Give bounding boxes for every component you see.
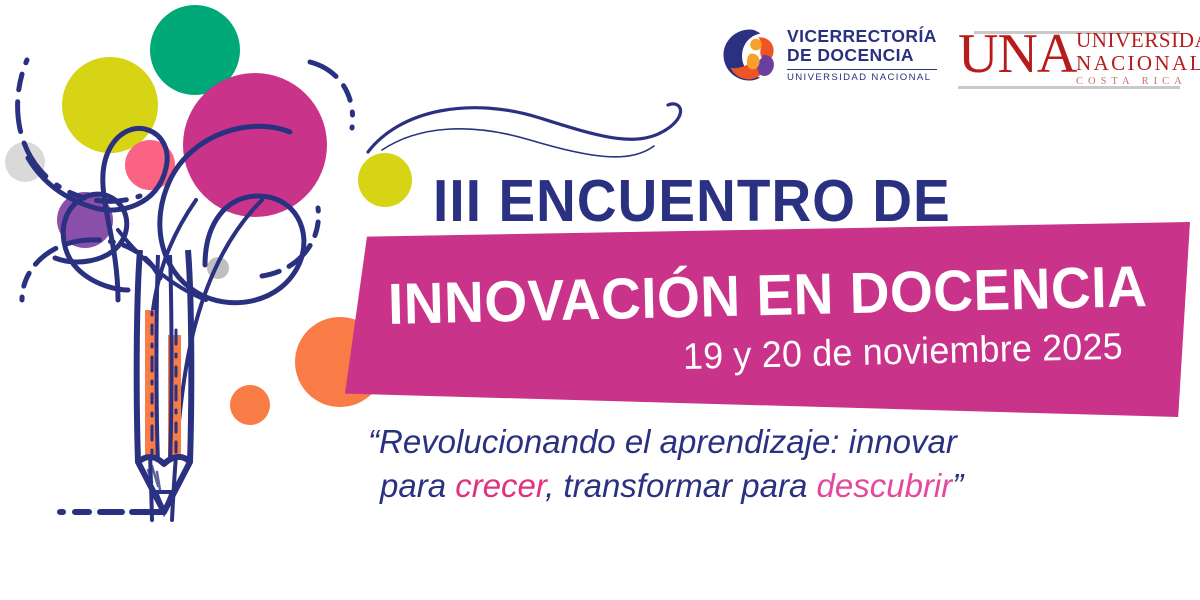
circle-orange-small (230, 385, 270, 425)
una-word-nacional: NACIONAL (1076, 53, 1200, 74)
pencil-inner-line-left (157, 255, 159, 462)
swoosh-curves (368, 104, 681, 157)
loop-yellow-outline (28, 128, 167, 300)
tagline-line2-mid: , transformar para (545, 467, 816, 504)
vicerrectoria-wordmark: VICERRECTORÍA DE DOCENCIA UNIVERSIDAD NA… (787, 28, 937, 83)
una-logo[interactable]: UNA UNIVERSIDAD NACIONAL COSTA RICA (958, 22, 1180, 94)
branch-cross-thin (118, 230, 206, 300)
pencil-tip-collar (138, 457, 190, 464)
circle-yellow-canopy (62, 57, 158, 153)
dashed-arc-lower-left (22, 240, 160, 300)
tagline-line-1: “Revolucionando el aprendizaje: innovar (368, 423, 957, 460)
circle-gray-small (207, 257, 229, 279)
swoosh-upper (368, 104, 681, 152)
tagline-line2-prefix: para (380, 467, 455, 504)
circle-pink-canopy (125, 140, 175, 190)
circle-gray-left (5, 142, 45, 182)
tagline-line2-suffix: ” (952, 467, 963, 504)
dashed-arc-upper-left (18, 60, 140, 201)
dashed-arc-right-lower (262, 208, 318, 276)
loop-purple-outline (55, 194, 128, 290)
swoosh-lower (382, 129, 654, 157)
loop-magenta-outline (160, 126, 304, 302)
pencil-stripe-right (168, 335, 181, 460)
tagline-line-2: para crecer, transformar para descubrir” (368, 464, 1048, 508)
event-headline: III ENCUENTRO DE (433, 172, 951, 231)
dashed-arc-right-canopy (310, 62, 353, 128)
logo-row: VICERRECTORÍA DE DOCENCIA UNIVERSIDAD NA… (720, 22, 1180, 102)
pencil-hatch-3 (157, 472, 160, 490)
tagline-highlight-crecer: crecer (455, 467, 545, 504)
circle-teal-canopy (150, 5, 240, 95)
branch-right-thin (172, 200, 262, 520)
una-rule-bottom (958, 86, 1180, 89)
circle-yellow-accent (358, 153, 412, 207)
pencil-outline (137, 250, 192, 512)
branch-left-thin (149, 200, 196, 520)
vicerrectoria-line2: DE DOCENCIA (787, 47, 937, 65)
vicerrectoria-docencia-logo[interactable]: VICERRECTORÍA DE DOCENCIA UNIVERSIDAD NA… (720, 26, 937, 84)
event-date: 19 y 20 de noviembre 2025 (683, 328, 1124, 375)
event-tagline: “Revolucionando el aprendizaje: innovar … (368, 420, 1048, 508)
pencil-hatch-2 (152, 466, 158, 486)
pencil-nib (156, 492, 172, 512)
vicerrectoria-line1: VICERRECTORÍA (787, 28, 937, 46)
tagline-highlight-descubrir: descubrir (817, 467, 953, 504)
pencil-hatch-1 (148, 470, 152, 482)
vicerrectoria-docencia-mark-icon (720, 26, 778, 84)
una-acronym: UNA (958, 26, 1076, 82)
pencil-stripe-left (145, 310, 158, 460)
circle-purple-canopy (57, 192, 113, 248)
pencil-inner-line-right (170, 255, 172, 462)
event-promo-banner: VICERRECTORÍA DE DOCENCIA UNIVERSIDAD NA… (0, 0, 1200, 600)
vicerrectoria-line3: UNIVERSIDAD NACIONAL (787, 73, 937, 83)
pencil-graphic (137, 250, 192, 512)
una-word-universidad: UNIVERSIDAD (1076, 30, 1200, 51)
una-wordmark: UNIVERSIDAD NACIONAL COSTA RICA (1076, 30, 1200, 88)
circle-magenta-canopy (183, 73, 327, 217)
vicerrectoria-divider (787, 69, 937, 70)
